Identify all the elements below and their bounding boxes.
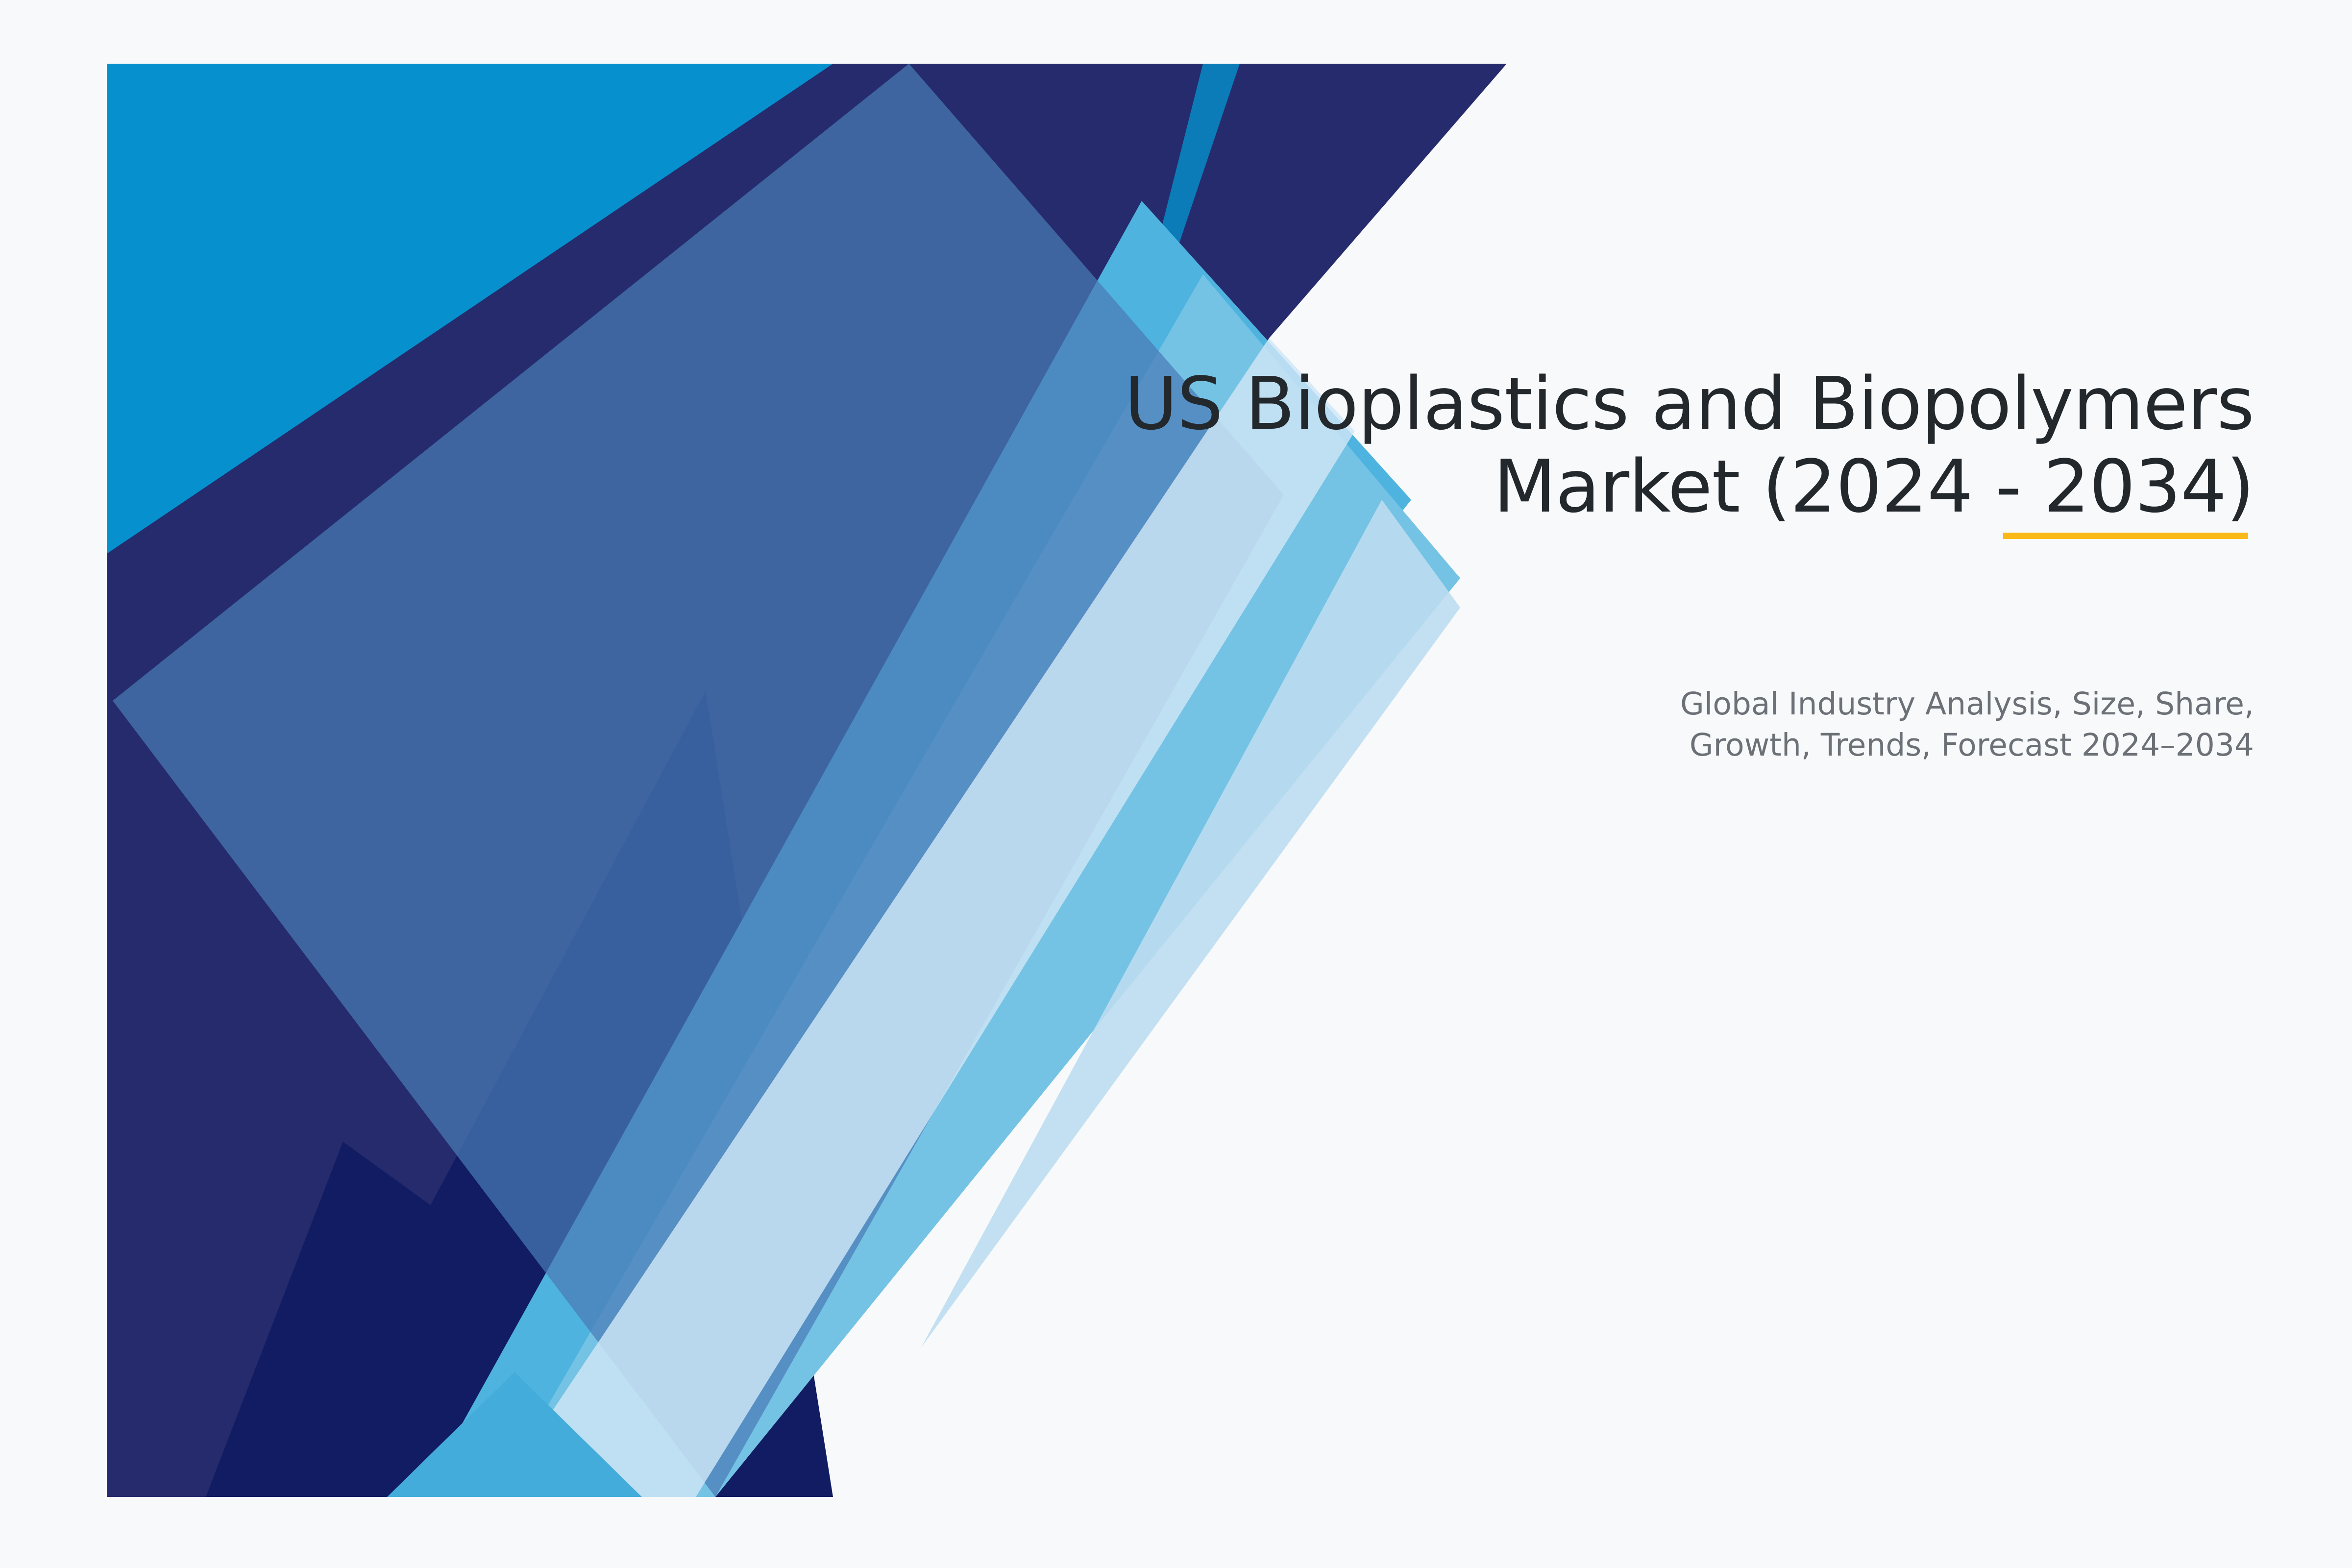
page-title: US Bioplastics and Biopolymers Market (2… (1053, 363, 2254, 528)
abstract-geometric-artwork (0, 0, 2352, 1568)
cover-text-block: US Bioplastics and Biopolymers Market (2… (1053, 363, 2254, 528)
title-accent-rule (2003, 533, 2248, 539)
page-subtitle: Global Industry Analysis, Size, Share, G… (1372, 684, 2254, 766)
cover-page: US Bioplastics and Biopolymers Market (2… (0, 0, 2352, 1568)
